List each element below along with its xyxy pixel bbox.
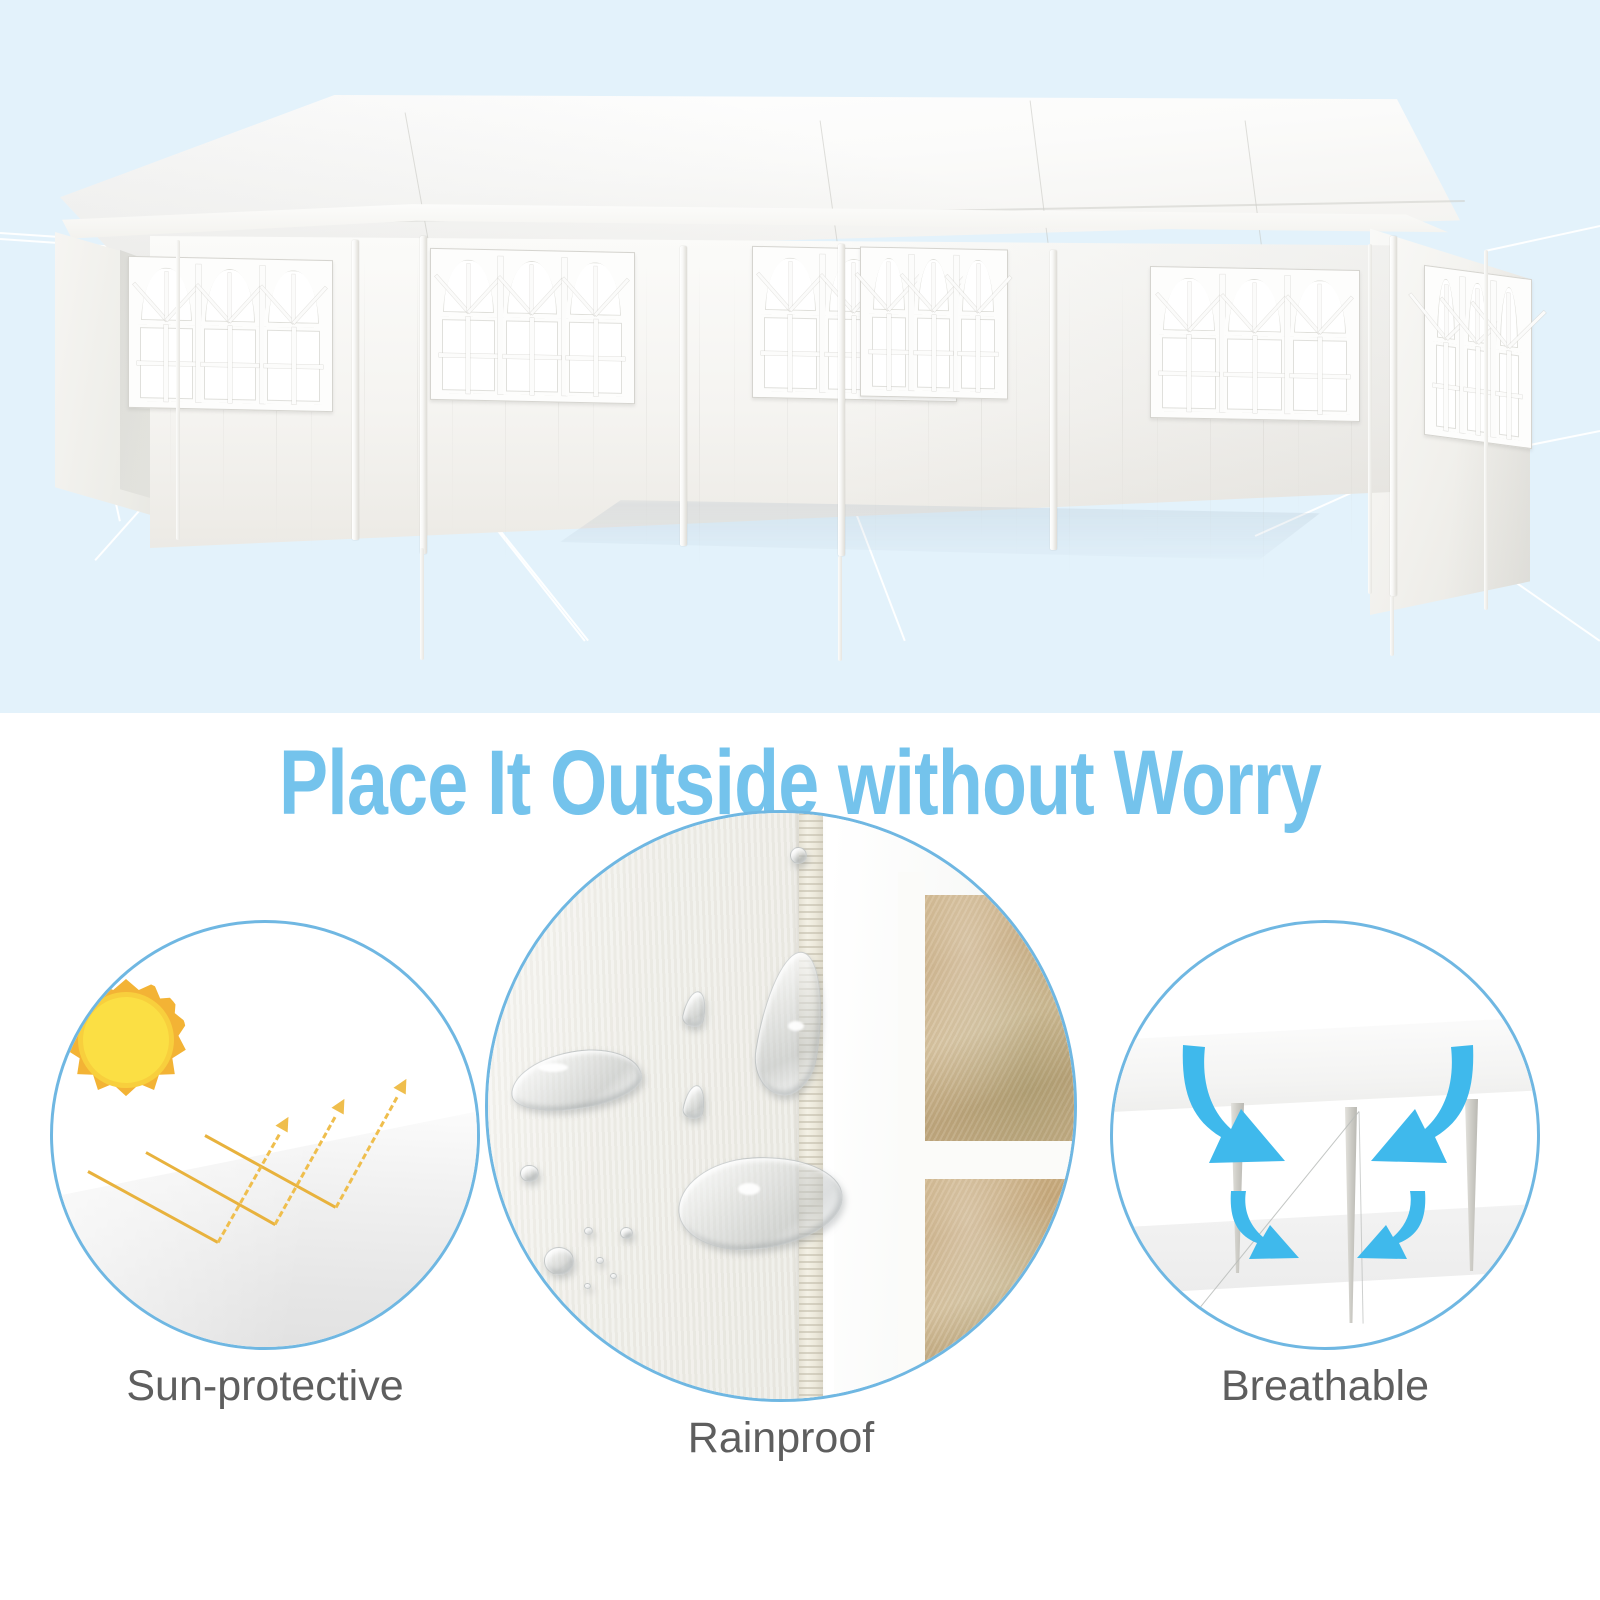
- product-hero-image: [0, 0, 1600, 713]
- breathable-circle: [1110, 920, 1540, 1350]
- tent-pole: [420, 236, 427, 554]
- window-muntin-v: [1476, 347, 1480, 436]
- window-muntin-ray: [594, 266, 597, 315]
- water-bead: [790, 847, 807, 864]
- wall-crease: [1016, 274, 1017, 560]
- window-muntin-v: [466, 316, 470, 393]
- window-muntin-v: [976, 316, 980, 392]
- window-muntin-ray: [977, 264, 980, 312]
- water-droplet-small: [681, 1083, 708, 1120]
- window-muntin-ray: [1221, 294, 1256, 333]
- water-bead: [544, 1247, 574, 1275]
- sun-protective-circle: [50, 920, 480, 1350]
- window-muntin-ray: [1507, 292, 1510, 347]
- rainproof-circle: [485, 810, 1077, 1402]
- tent-pole: [1390, 236, 1397, 596]
- airflow-arrow: [1371, 1045, 1473, 1163]
- wall-crease: [1122, 277, 1123, 527]
- sun-ray-arrowhead: [393, 1075, 412, 1094]
- window-muntin-v: [292, 327, 296, 404]
- wall-crease: [364, 256, 365, 506]
- window-muntin-v: [887, 314, 891, 390]
- sun-ray-arrowhead: [275, 1113, 294, 1132]
- window-muntin-v: [1444, 343, 1448, 432]
- window-muntin-ray: [260, 285, 295, 324]
- window-muntin-v: [594, 319, 598, 396]
- tent-ground-shadow: [560, 500, 1320, 560]
- window-muntin-v: [1187, 334, 1191, 411]
- window-muntin-ray: [887, 262, 890, 310]
- wall-crease: [699, 265, 700, 569]
- water-bead: [520, 1165, 539, 1182]
- tent-pole: [680, 246, 687, 546]
- guy-rope: [1485, 225, 1600, 252]
- droplet-highlight: [738, 1183, 760, 1195]
- window-muntin-ray: [530, 265, 533, 314]
- wall-crease: [1069, 276, 1070, 580]
- sun-ray-arrowhead: [331, 1095, 350, 1114]
- window-muntin-v: [932, 315, 936, 391]
- window-muntin-ray: [292, 274, 295, 323]
- tent-roof-shading: [60, 95, 1460, 260]
- window-muntin-ray: [1445, 284, 1448, 339]
- sun-reflected-ray: [274, 1116, 337, 1225]
- window-muntin-ray: [1318, 284, 1321, 333]
- tent-window-group: [430, 248, 635, 404]
- tent-pole: [838, 244, 845, 556]
- window-muntin-ray: [1286, 295, 1321, 334]
- feature-label-sun-protective: Sun-protective: [50, 1362, 480, 1411]
- tent-illustration: [0, 0, 1600, 713]
- tent-pole: [352, 240, 359, 540]
- water-droplet-small: [680, 989, 709, 1029]
- window-muntin-ray: [1253, 295, 1288, 333]
- droplet-highlight: [788, 1021, 804, 1031]
- tent-window-group: [128, 256, 333, 412]
- canopy-airflow-diagram: [1113, 923, 1537, 1347]
- tent-leg: [838, 556, 842, 661]
- window-muntin-ray: [435, 275, 470, 314]
- tent-gable-window-group: [1424, 265, 1532, 449]
- window-muntin-ray: [757, 273, 792, 312]
- window-muntin-ray: [1156, 293, 1191, 332]
- feature-label-rainproof: Rainproof: [485, 1414, 1077, 1463]
- wall-crease: [646, 264, 647, 550]
- water-bead: [610, 1273, 617, 1279]
- airflow-arrow: [1183, 1045, 1285, 1163]
- airflow-arrow: [1357, 1191, 1425, 1259]
- window-muntin-ray: [562, 277, 597, 316]
- window-muntin-v: [852, 316, 856, 393]
- water-droplet: [675, 1151, 846, 1254]
- wall-crease: [417, 257, 418, 525]
- water-bead: [620, 1227, 633, 1239]
- window-muntin-v: [1253, 336, 1257, 413]
- window-muntin-ray: [1476, 288, 1479, 343]
- sun-rays-icon: [53, 923, 477, 1347]
- window-muntin-ray: [467, 264, 470, 313]
- tent-pole: [1050, 250, 1057, 550]
- window-muntin-ray: [1188, 282, 1191, 331]
- window-muntin-v: [1507, 351, 1511, 440]
- tent-pole: [1368, 244, 1372, 594]
- water-bead: [596, 1257, 604, 1264]
- tent-leg: [1390, 596, 1394, 656]
- tent-leg: [420, 548, 424, 660]
- window-muntin-ray: [165, 272, 168, 321]
- window-muntin-ray: [932, 263, 935, 311]
- window-muntin-v: [164, 324, 168, 401]
- water-droplet: [507, 1042, 646, 1118]
- tent-window-group: [860, 246, 1008, 399]
- window-muntin-v: [788, 314, 792, 391]
- tent-pole: [176, 240, 180, 540]
- window-muntin-v: [530, 318, 534, 395]
- sun-reflected-ray: [217, 1134, 281, 1243]
- airflow-arrows-icon: [1113, 923, 1540, 1350]
- wall-crease: [734, 266, 735, 516]
- features-section: Place It Outside without Worry Sun-prote…: [0, 713, 1600, 1600]
- window-muntin-ray: [228, 273, 231, 322]
- window-muntin-v: [228, 326, 232, 403]
- tent-pole: [1484, 250, 1488, 610]
- water-bead: [584, 1283, 591, 1289]
- window-muntin-ray: [789, 262, 792, 311]
- window-muntin-ray: [1253, 283, 1256, 332]
- droplet-highlight: [538, 1063, 568, 1072]
- airflow-arrow: [1231, 1191, 1299, 1259]
- water-bead: [584, 1227, 593, 1235]
- window-muntin-ray: [133, 283, 168, 322]
- tent-window-group: [1150, 266, 1360, 422]
- water-droplets-icon: [488, 813, 1074, 1399]
- guy-rope: [0, 232, 60, 238]
- feature-label-breathable: Breathable: [1110, 1362, 1540, 1411]
- window-muntin-v: [1318, 337, 1322, 414]
- window-muntin-ray: [852, 263, 855, 312]
